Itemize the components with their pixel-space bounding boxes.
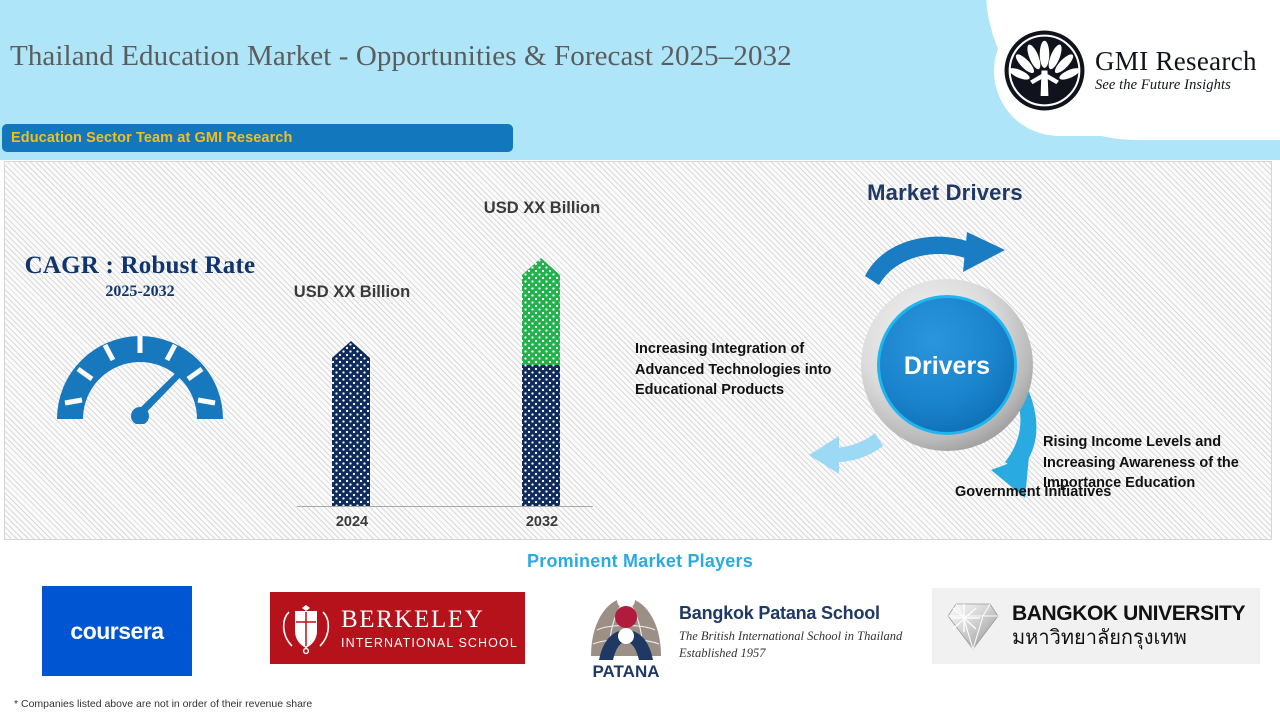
logo-coursera: coursera: [42, 586, 192, 676]
curved-arrow-up-right-icon: [865, 232, 1005, 285]
globe-figure-icon: PATANA: [583, 584, 669, 680]
palm-fan-emblem-icon: [1002, 28, 1087, 113]
logo-berkeley: BERKELEY INTERNATIONAL SCHOOL: [270, 592, 525, 664]
speedometer-gauge-icon: [45, 319, 235, 424]
market-drivers-title: Market Drivers: [765, 180, 1125, 206]
team-badge: Education Sector Team at GMI Research: [2, 124, 513, 152]
logo-name: GMI Research: [1095, 47, 1257, 75]
bar-chart-svg: [289, 192, 599, 522]
patana-wordmark-block: Bangkok Patana School The British Intern…: [679, 603, 902, 661]
berkeley-subtitle: INTERNATIONAL SCHOOL: [341, 636, 518, 650]
logo-coursera-label: coursera: [70, 618, 163, 645]
crest-shield-icon: [279, 598, 333, 658]
patana-name: Bangkok Patana School: [679, 603, 902, 624]
cagr-period: 2025-2032: [5, 283, 275, 301]
patana-subtitle-2: Established 1957: [679, 645, 902, 661]
logo-bangkok-university: BANGKOK UNIVERSITY มหาวิทยาลัยกรุงเทพ: [932, 588, 1260, 664]
prominent-market-players-title: Prominent Market Players: [0, 551, 1280, 572]
driver-text-left: Increasing Integration of Advanced Techn…: [635, 339, 850, 401]
cagr-block: CAGR : Robust Rate 2025-2032: [5, 252, 275, 429]
cagr-title: CAGR : Robust Rate: [5, 252, 275, 280]
header-band: Thailand Education Market - Opportunitie…: [0, 0, 1280, 160]
market-players-row: coursera BERKELEY INTERNATIONAL SCHOOL: [0, 578, 1280, 688]
bangkok-university-name: BANGKOK UNIVERSITY: [1012, 603, 1245, 625]
curved-arrow-left-icon: [809, 433, 883, 474]
bar-2032-base: [522, 365, 560, 506]
footer-disclaimer: * Companies listed above are not in orde…: [14, 698, 312, 710]
driver-text-bottom: Government Initiatives: [955, 482, 1205, 503]
team-badge-label: Education Sector Team at GMI Research: [2, 130, 292, 146]
bar-value-label-2032: USD XX Billion: [481, 198, 603, 220]
bangkok-university-thai-name: มหาวิทยาลัยกรุงเทพ: [1012, 627, 1245, 649]
logo-tagline: See the Future Insights: [1095, 77, 1257, 94]
diamond-icon: [940, 596, 1006, 656]
gmi-logo: GMI Research See the Future Insights: [1002, 28, 1264, 113]
berkeley-wordmark: BERKELEY INTERNATIONAL SCHOOL: [341, 607, 518, 650]
bar-category-2032: 2032: [481, 514, 603, 530]
main-content-panel: CAGR : Robust Rate 2025-2032: [4, 161, 1272, 540]
bar-category-2024: 2024: [291, 514, 413, 530]
logo-patana: PATANA Bangkok Patana School The British…: [583, 582, 913, 682]
market-size-bar-chart: USD XX Billion USD XX Billion 2024 2032: [289, 192, 599, 522]
patana-wordmark: PATANA: [592, 662, 659, 680]
logo-text-block: GMI Research See the Future Insights: [1095, 47, 1257, 93]
bar-2024: [332, 341, 370, 506]
patana-subtitle: The British International School in Thai…: [679, 628, 902, 644]
page-title: Thailand Education Market - Opportunitie…: [10, 40, 792, 73]
berkeley-name: BERKELEY: [341, 607, 518, 632]
bar-2032-growth: [522, 258, 560, 365]
drivers-center-label: Drivers: [904, 352, 990, 380]
bar-value-label-2024: USD XX Billion: [291, 282, 413, 304]
chart-axis-line: [297, 506, 593, 507]
bangkok-university-wordmark: BANGKOK UNIVERSITY มหาวิทยาลัยกรุงเทพ: [1012, 603, 1245, 648]
